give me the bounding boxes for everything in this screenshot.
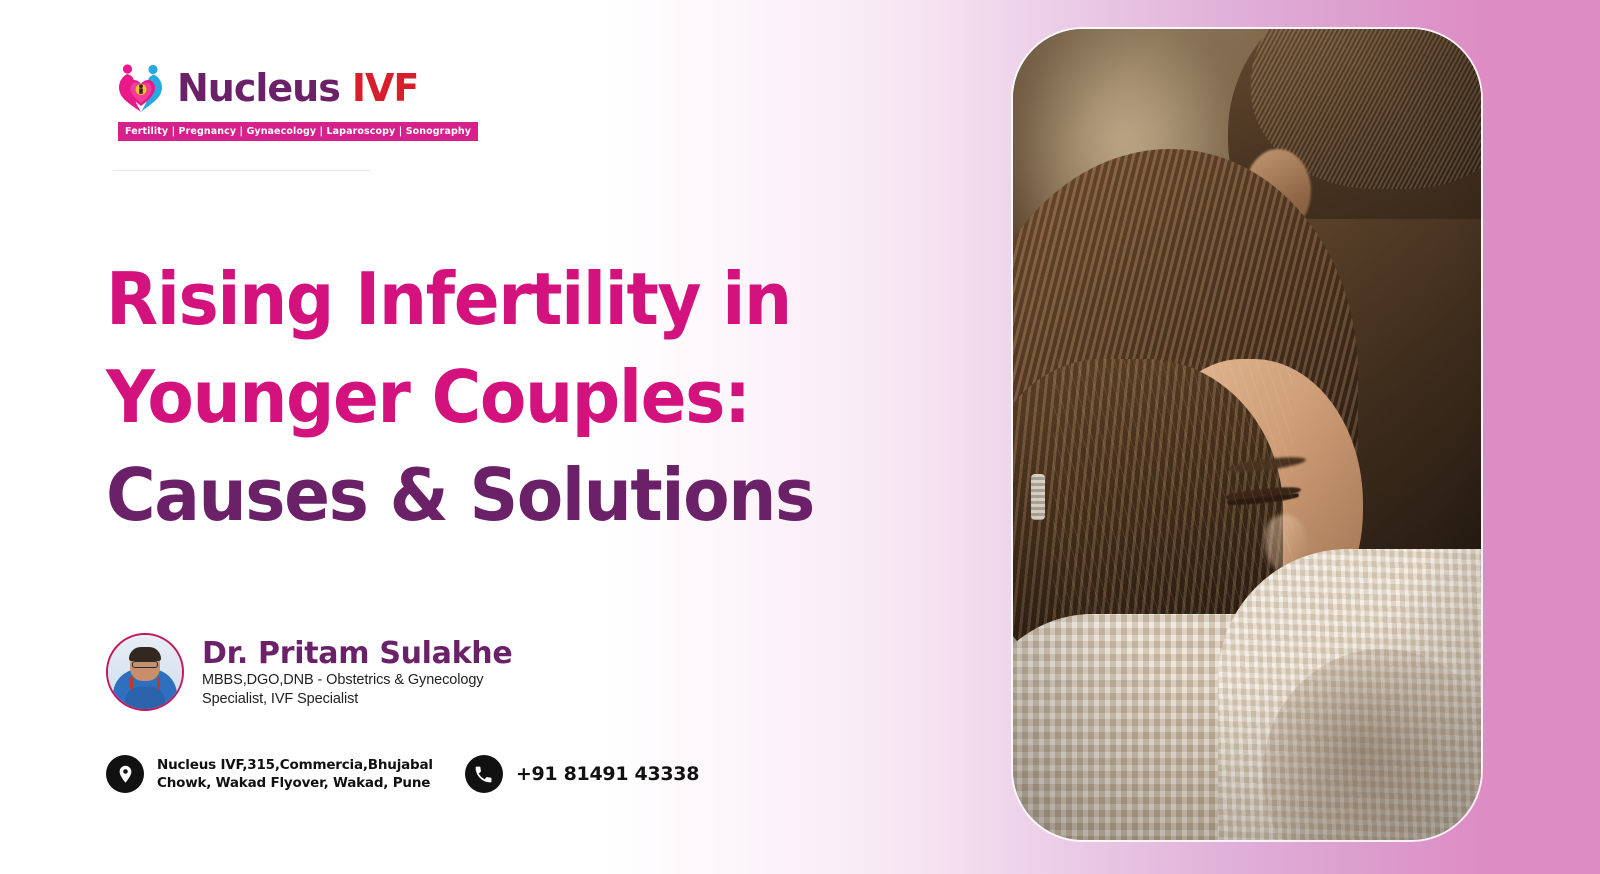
brand-logo[interactable]: NucleusIVF Fertility | Pregnancy | Gynae… (113, 60, 478, 141)
address-item[interactable]: Nucleus IVF,315,Commercia,Bhujabal Chowk… (106, 755, 433, 793)
logo-word-nucleus: Nucleus (177, 66, 340, 110)
phone-item[interactable]: +91 81491 43338 (465, 755, 699, 793)
doctor-info: Dr. Pritam Sulakhe MBBS,DGO,DNB - Obstet… (106, 633, 512, 711)
headline-line-1: Rising Infertility in (106, 250, 877, 348)
heart-family-logo-icon (113, 60, 169, 116)
contact-bar: Nucleus IVF,315,Commercia,Bhujabal Chowk… (106, 755, 699, 793)
doctor-name: Dr. Pritam Sulakhe (202, 638, 512, 670)
headline-line-2: Younger Couples: (106, 348, 877, 446)
left-content-column: NucleusIVF Fertility | Pregnancy | Gynae… (0, 0, 1000, 874)
logo-tagline: Fertility | Pregnancy | Gynaecology | La… (118, 122, 478, 141)
address-text: Nucleus IVF,315,Commercia,Bhujabal Chowk… (157, 756, 433, 792)
logo-wordmark: NucleusIVF (177, 69, 418, 107)
page-title: Rising Infertility in Younger Couples: C… (106, 250, 926, 544)
doctor-credentials-line-1: MBBS,DGO,DNB - Obstetrics & Gynecology (202, 672, 512, 689)
map-pin-icon (106, 755, 144, 793)
phone-icon (465, 755, 503, 793)
logo-row: NucleusIVF (113, 60, 478, 116)
couple-embracing-photo (1013, 29, 1481, 840)
address-line-1: Nucleus IVF,315,Commercia,Bhujabal (157, 757, 433, 773)
doctor-credentials-line-2: Specialist, IVF Specialist (202, 691, 512, 708)
headline-line-3: Causes & Solutions (106, 446, 877, 544)
address-line-2: Chowk, Wakad Flyover, Wakad, Pune (157, 775, 430, 791)
avatar (106, 633, 184, 711)
header-divider (113, 170, 371, 171)
phone-number: +91 81491 43338 (516, 763, 699, 785)
doctor-text: Dr. Pritam Sulakhe MBBS,DGO,DNB - Obstet… (202, 636, 512, 708)
logo-word-ivf: IVF (352, 66, 419, 110)
